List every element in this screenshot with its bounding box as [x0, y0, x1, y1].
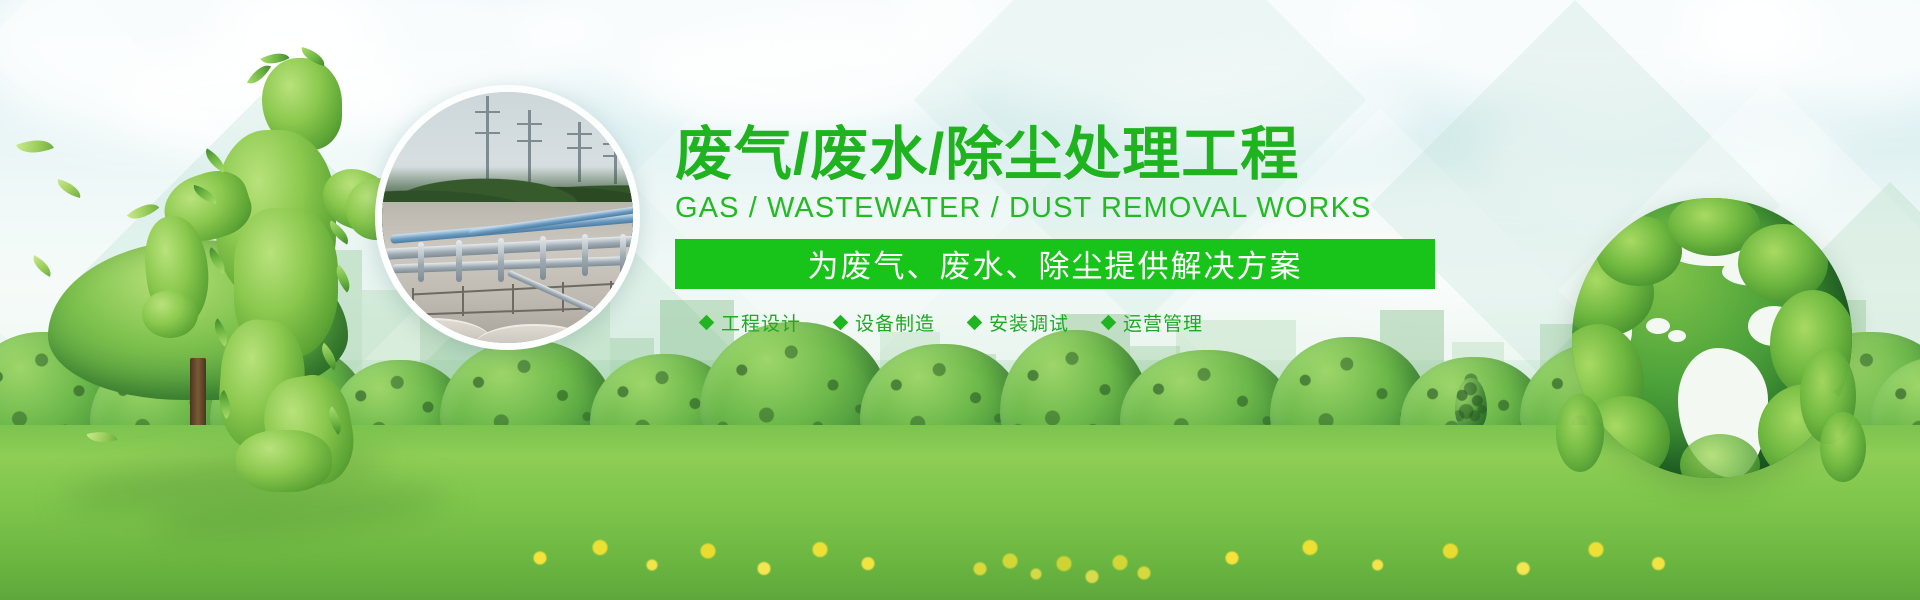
page-subtitle-english: GAS / WASTEWATER / DUST REMOVAL WORKS	[675, 192, 1455, 225]
slogan-text: 为废气、废水、除尘提供解决方案	[808, 241, 1303, 286]
feature-label: 设备制造	[855, 309, 935, 336]
leaf-man-figure	[150, 58, 420, 488]
globe-vine	[1820, 412, 1866, 482]
slogan-bar: 为废气、废水、除尘提供解决方案	[675, 239, 1435, 289]
feature-list: 工程设计 设备制造 安装调试 运营管理	[675, 309, 1455, 336]
diamond-bullet-icon	[1101, 315, 1117, 331]
feature-label: 工程设计	[721, 309, 801, 336]
green-leaf-globe	[1572, 198, 1852, 478]
feature-label: 运营管理	[1123, 309, 1203, 336]
diamond-bullet-icon	[967, 315, 983, 331]
feature-item-operation-management[interactable]: 运营管理	[1103, 309, 1203, 336]
diamond-bullet-icon	[833, 315, 849, 331]
eco-engineering-banner: 废气/废水/除尘处理工程 GAS / WASTEWATER / DUST REM…	[0, 0, 1920, 600]
feature-item-equipment-manufacturing[interactable]: 设备制造	[835, 309, 935, 336]
feature-item-engineering-design[interactable]: 工程设计	[701, 309, 801, 336]
small-tree	[1455, 378, 1487, 432]
cloud	[640, 20, 980, 130]
wastewater-plant-photo	[375, 85, 640, 350]
flower-patch	[1180, 530, 1700, 600]
headline-text-block: 废气/废水/除尘处理工程 GAS / WASTEWATER / DUST REM…	[675, 125, 1455, 336]
diamond-bullet-icon	[699, 315, 715, 331]
flower-patch	[960, 548, 1160, 600]
flower-patch	[500, 530, 900, 600]
feature-label: 安装调试	[989, 309, 1069, 336]
globe-vine	[1556, 394, 1604, 472]
page-title: 废气/废水/除尘处理工程	[675, 125, 1455, 186]
feature-item-installation-commissioning[interactable]: 安装调试	[969, 309, 1069, 336]
